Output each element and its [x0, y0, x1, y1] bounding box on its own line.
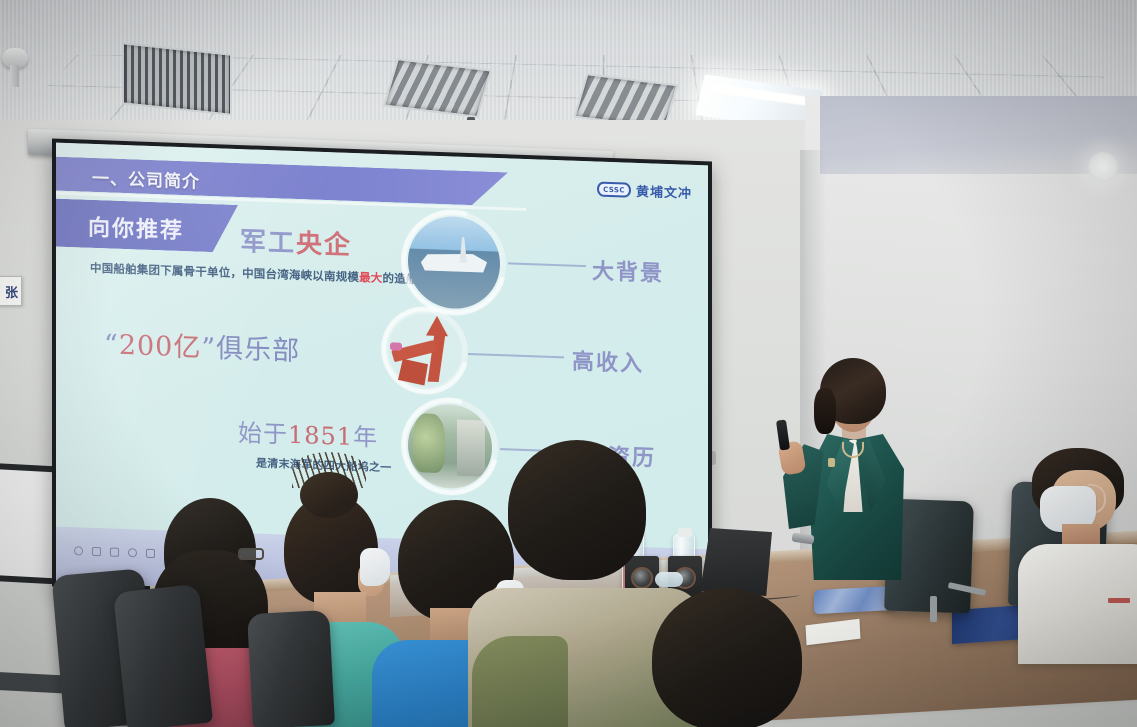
student-shirt — [1018, 544, 1137, 664]
block1-photo-ring — [408, 215, 500, 310]
block3-headline: 始于1851年 — [238, 413, 378, 453]
cssc-mark-text: CSSC — [603, 185, 625, 194]
cssc-badge-icon: CSSC — [597, 182, 631, 198]
pointer-icon[interactable] — [92, 547, 101, 556]
block1-leader-line — [508, 262, 586, 267]
audience-5 — [652, 588, 820, 727]
eraser-icon[interactable] — [128, 548, 137, 557]
head — [652, 588, 802, 727]
highlighter-icon[interactable] — [110, 548, 119, 557]
red-crane-icon — [386, 314, 470, 393]
block1-headline-plain: 军工 — [240, 227, 296, 259]
glasses-icon — [238, 548, 264, 560]
block2-headline-post: ”俱乐部 — [201, 333, 300, 367]
smoke-detector-icon — [2, 48, 28, 68]
slide-title: 一、公司简介 — [92, 164, 200, 193]
block2-quote-open: “ — [104, 329, 119, 361]
company-logo: CSSC 黄埔文冲 — [597, 180, 692, 202]
wall-sign-text: 张 — [5, 282, 18, 301]
shirt-logo — [1108, 598, 1130, 603]
block2-headline-accent: 200亿 — [119, 330, 202, 364]
block2-right-label: 高收入 — [572, 344, 644, 379]
block1-subtext-accent: 最大 — [359, 270, 382, 285]
block1-subtext-before: 中国船舶集团下属骨干单位，中国台湾海峡以南规模 — [90, 261, 359, 284]
presentation-room-photo: 张 一、公司简介 CSSC 黄埔文冲 向你推荐 军工央企 — [0, 0, 1137, 727]
block3-photo-ring — [408, 403, 492, 490]
laptop[interactable] — [700, 528, 772, 596]
presenter-watch — [791, 533, 814, 545]
recommend-banner-label: 向你推荐 — [88, 210, 184, 245]
block1-right-label: 大背景 — [592, 253, 664, 288]
block1-headline: 军工央企 — [240, 221, 352, 262]
office-chair — [113, 584, 213, 727]
head — [508, 440, 646, 580]
air-vent-icon — [122, 42, 232, 116]
hair-bun — [300, 472, 358, 518]
block3-headline-post: 年 — [353, 423, 378, 452]
wall-sign: 张 — [0, 276, 22, 306]
presenter — [790, 358, 940, 613]
company-name: 黄埔文冲 — [636, 181, 692, 202]
block2-leader-line — [468, 353, 564, 358]
pen-icon[interactable] — [74, 546, 83, 555]
office-chair — [247, 610, 335, 727]
student-right — [1026, 448, 1137, 658]
block3-headline-accent: 1851 — [288, 421, 353, 451]
sleeve — [472, 636, 568, 727]
block2-headline: “200亿”俱乐部 — [104, 322, 300, 368]
presenter-pin — [828, 458, 835, 467]
block1-subtext: 中国船舶集团下属骨干单位，中国台湾海峡以南规模最大的造船企业 — [90, 260, 441, 288]
block1-headline-accent: 央企 — [296, 229, 352, 261]
presenter-hair — [820, 358, 886, 424]
block3-headline-plain: 始于 — [238, 419, 288, 449]
wall-light — [1088, 152, 1118, 182]
